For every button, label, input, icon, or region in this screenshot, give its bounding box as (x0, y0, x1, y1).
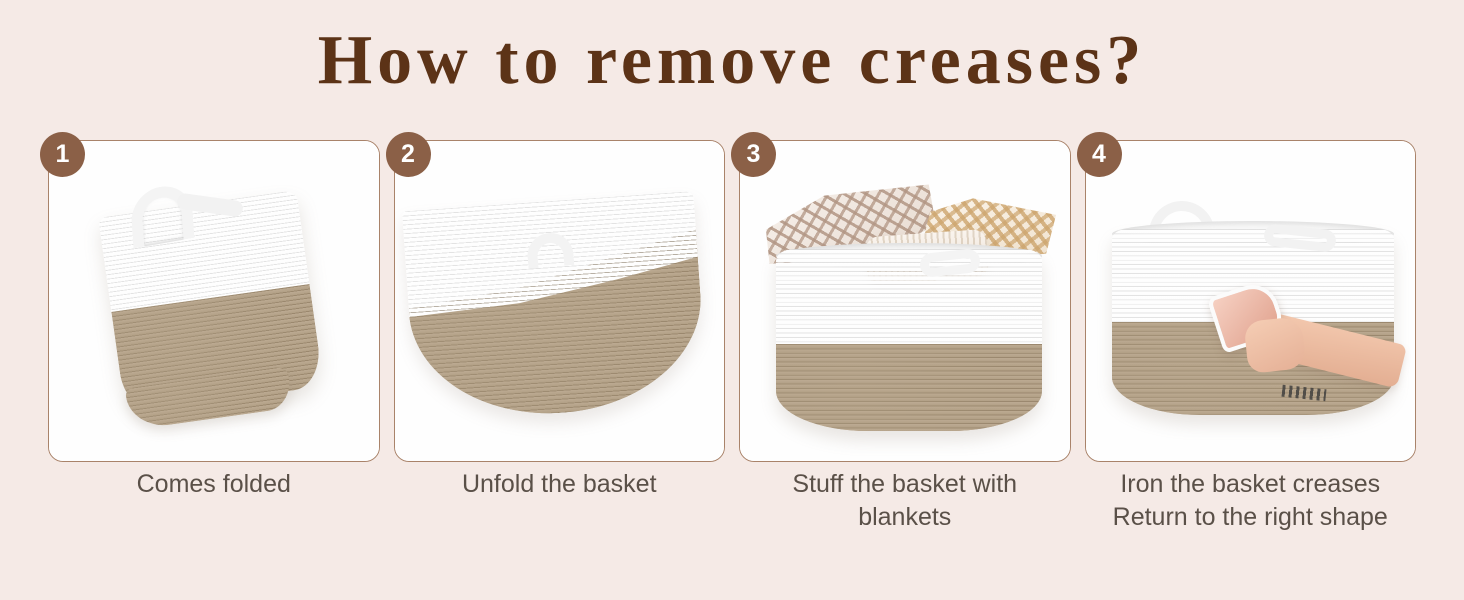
folded-basket-illustration (49, 141, 379, 461)
hand-fist (1243, 316, 1306, 374)
stuffed-basket-illustration (740, 141, 1070, 461)
step-caption-1: Comes folded (48, 468, 380, 534)
ironing-basket-illustration (1086, 141, 1416, 461)
basket-beige-section (776, 344, 1042, 431)
step-caption-2: Unfold the basket (394, 468, 726, 534)
step-caption-3: Stuff the basket with blankets (739, 468, 1071, 534)
captions-row: Comes folded Unfold the basket Stuff the… (48, 468, 1416, 534)
step-badge-2: 2 (386, 132, 431, 177)
step-card-2: 2 (394, 140, 726, 462)
step-image-2 (395, 141, 725, 461)
steps-card-row: 1 2 (48, 140, 1416, 462)
basket-white-section (776, 249, 1042, 344)
page-title: How to remove creases? (0, 26, 1464, 96)
unfolded-basket-illustration (395, 141, 725, 461)
step-card-1: 1 (48, 140, 380, 462)
step-card-3: 3 (739, 140, 1071, 462)
step-image-3 (740, 141, 1070, 461)
basket-body (401, 191, 707, 423)
step-badge-1: 1 (40, 132, 85, 177)
infographic-page: How to remove creases? 1 (0, 0, 1464, 600)
step-image-1 (49, 141, 379, 461)
step-badge-4: 4 (1077, 132, 1122, 177)
basket-handle-icon (130, 182, 195, 249)
basket-body (776, 249, 1042, 431)
step-caption-4: Iron the basket creases Return to the ri… (1085, 468, 1417, 534)
step-card-4: 4 (1085, 140, 1417, 462)
step-badge-3: 3 (731, 132, 776, 177)
step-image-4 (1086, 141, 1416, 461)
